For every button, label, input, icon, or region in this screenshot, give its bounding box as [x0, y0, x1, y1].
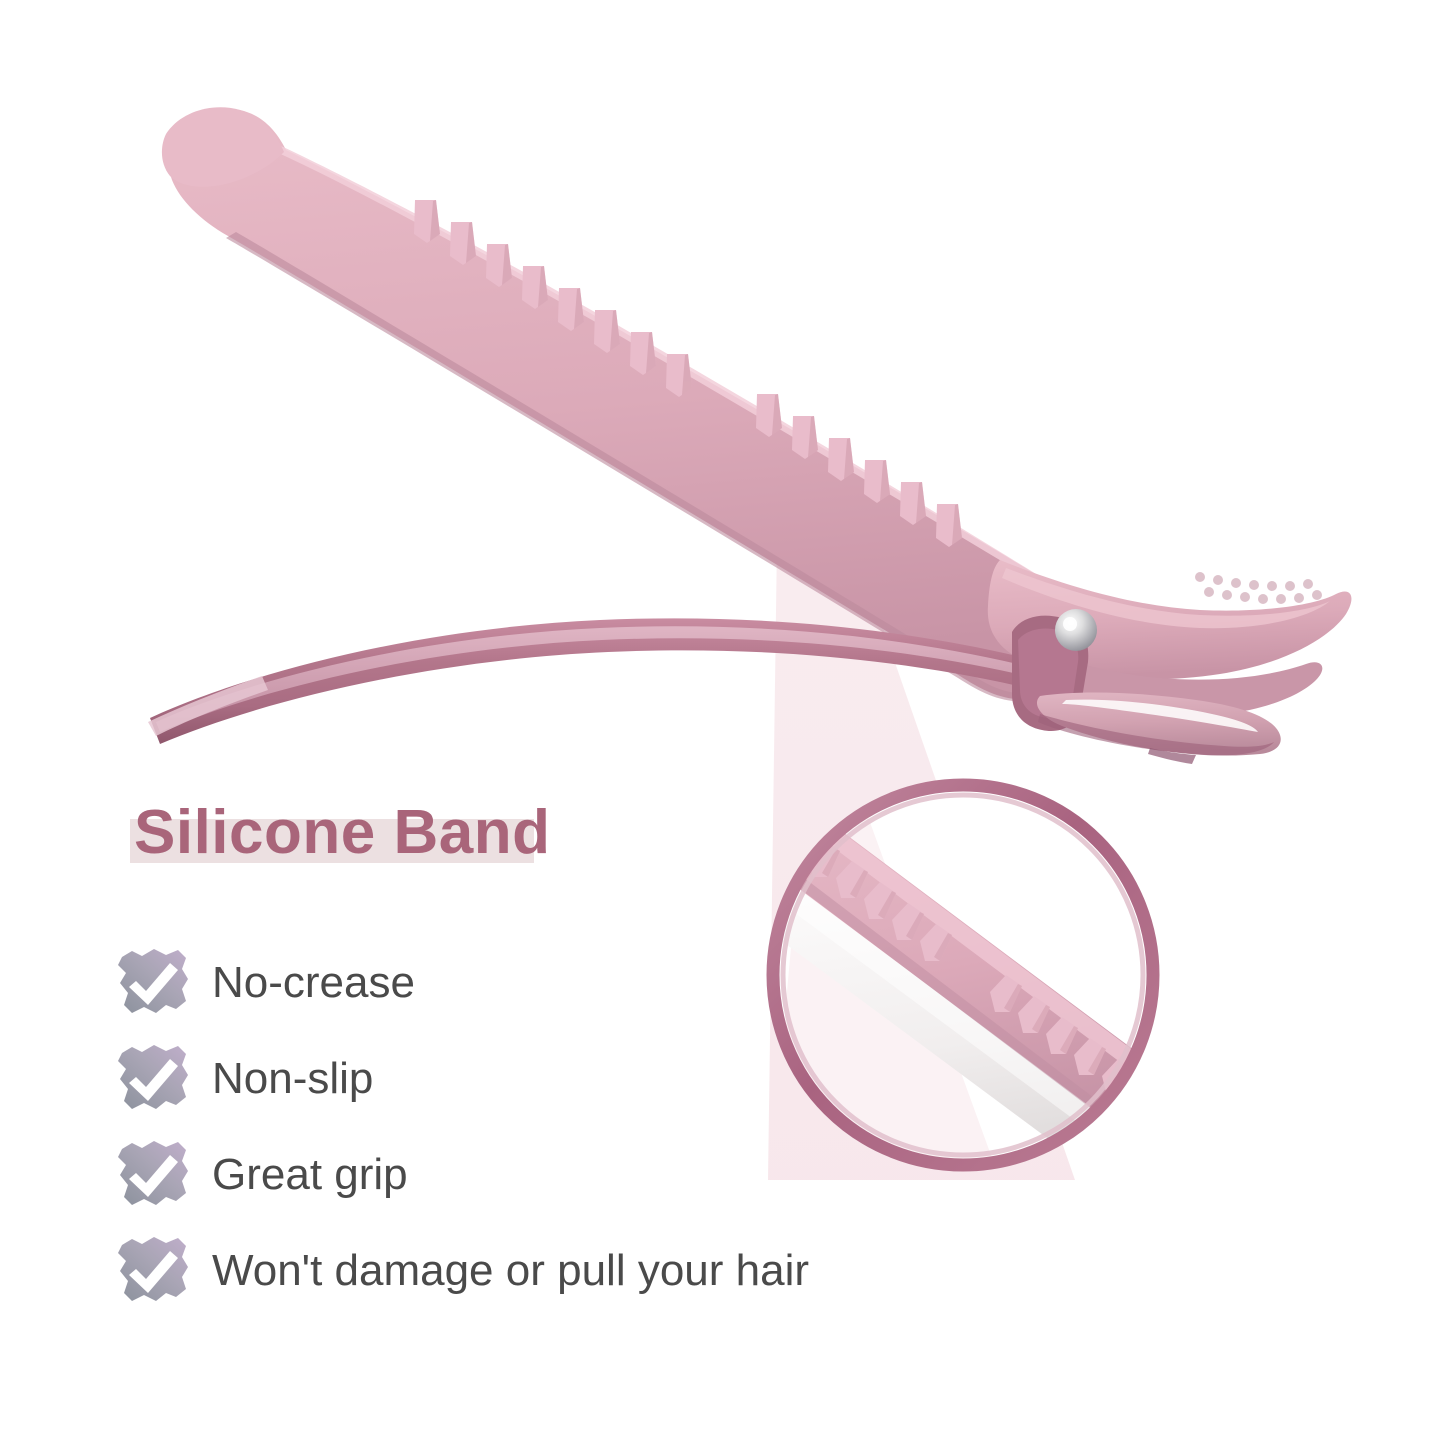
product-marketing-image: Silicone Band No-crease [0, 0, 1445, 1445]
silicone-teeth [414, 200, 962, 547]
feature-item-no-crease: No-crease [112, 935, 992, 1031]
clip-lower-jaw [1014, 640, 1322, 717]
clip-head-right [988, 560, 1352, 679]
hinge-rivet [1055, 609, 1097, 651]
feature-item-wont-damage-hair: Won't damage or pull your hair [112, 1223, 992, 1319]
page-title: Silicone Band [134, 798, 550, 867]
silicone-teeth-shadow [430, 200, 962, 545]
tail-body [1037, 693, 1281, 756]
clip-hinge [1012, 609, 1097, 731]
feature-label: Non-slip [212, 1057, 373, 1101]
clip-lower-arm [148, 618, 1075, 744]
feature-item-great-grip: Great grip [112, 1127, 992, 1223]
check-badge-icon [112, 1135, 196, 1215]
feature-label: Great grip [212, 1153, 408, 1197]
check-badge-icon [112, 1039, 196, 1119]
feature-item-non-slip: Non-slip [112, 1031, 992, 1127]
clip-left-tip [162, 107, 284, 187]
tail-slot-highlight [1062, 700, 1258, 732]
clip-tail [1037, 693, 1281, 764]
feature-label: No-crease [212, 961, 415, 1005]
silicone-upper-body [166, 108, 1150, 700]
white-inner-band [240, 168, 1010, 632]
page-title-wrap: Silicone Band [112, 800, 558, 865]
lower-arm-highlight [156, 626, 1060, 732]
feature-label: Won't damage or pull your hair [212, 1249, 809, 1293]
hinge-bracket [1012, 616, 1088, 731]
grip-texture-bumps [1195, 572, 1322, 604]
lower-arm-blade [150, 618, 1075, 744]
check-badge-icon [112, 1231, 196, 1311]
feature-list: No-crease Non-slip [112, 935, 992, 1319]
feature-panel: Silicone Band No-crease [112, 800, 992, 1319]
clip-upper-arm [162, 107, 1352, 717]
check-badge-icon [112, 943, 196, 1023]
